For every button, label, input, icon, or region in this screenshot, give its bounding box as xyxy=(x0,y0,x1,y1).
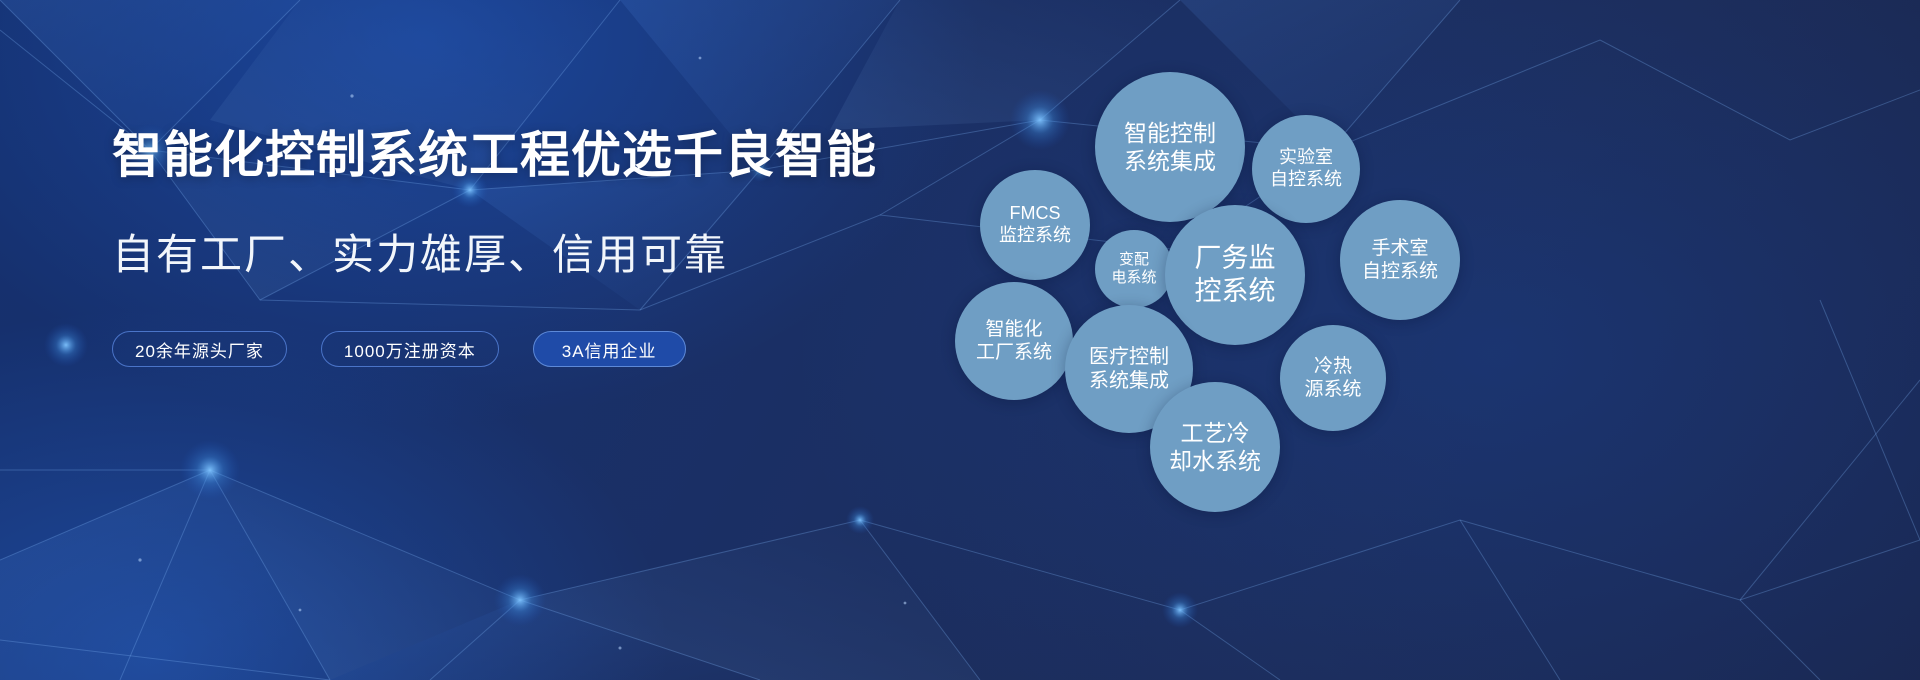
bubble-label-line: 自控系统 xyxy=(1270,169,1342,191)
bubble-label-line: 电系统 xyxy=(1111,269,1156,287)
bubble-intelligent-control-integration[interactable]: 智能控制系统集成 xyxy=(1095,72,1245,222)
bubble-label-line: 控系统 xyxy=(1195,275,1276,308)
hero-banner: 智能化控制系统工程优选千良智能 自有工厂、实力雄厚、信用可靠 20余年源头厂家 … xyxy=(0,0,1920,680)
bubble-lab-automation[interactable]: 实验室自控系统 xyxy=(1252,115,1360,223)
bubble-intelligent-factory[interactable]: 智能化工厂系统 xyxy=(955,282,1073,400)
bubble-label-line: 源系统 xyxy=(1304,378,1361,401)
bubble-label-line: 自控系统 xyxy=(1362,260,1438,283)
bubble-label-line: 却水系统 xyxy=(1169,447,1261,475)
bubble-plant-facility-monitoring[interactable]: 厂务监控系统 xyxy=(1165,205,1305,345)
bubble-label-line: 系统集成 xyxy=(1124,147,1216,175)
bubble-label-line: 智能化 xyxy=(985,318,1042,341)
polygon-faces-bottom xyxy=(0,470,980,680)
badge-group: 20余年源头厂家 1000万注册资本 3A信用企业 xyxy=(112,331,1012,367)
bubble-fmcs-monitoring[interactable]: FMCS监控系统 xyxy=(980,170,1090,280)
badge-years[interactable]: 20余年源头厂家 xyxy=(112,331,287,367)
bubble-label-line: FMCS xyxy=(1010,203,1061,225)
bubble-label-line: 监控系统 xyxy=(999,225,1071,247)
bubble-label-line: 工厂系统 xyxy=(976,341,1052,364)
bubble-power-distribution[interactable]: 变配电系统 xyxy=(1095,230,1173,308)
bubble-label-line: 手术室 xyxy=(1371,237,1428,260)
bubble-label-line: 实验室 xyxy=(1279,147,1333,169)
bubble-label-line: 工艺冷 xyxy=(1181,419,1250,447)
page-title: 智能化控制系统工程优选千良智能 xyxy=(112,128,1012,183)
badge-credit-rating[interactable]: 3A信用企业 xyxy=(533,331,686,367)
bubble-label-line: 厂务监 xyxy=(1195,242,1276,275)
bubble-label-line: 系统集成 xyxy=(1089,369,1169,393)
hero-subtitle: 自有工厂、实力雄厚、信用可靠 xyxy=(112,231,1012,279)
service-bubble-cluster: 智能控制系统集成实验室自控系统手术室自控系统FMCS监控系统变配电系统厂务监控系… xyxy=(940,50,1840,650)
bubble-label-line: 智能控制 xyxy=(1124,119,1216,147)
badge-capital[interactable]: 1000万注册资本 xyxy=(321,331,499,367)
bubble-label-line: 变配 xyxy=(1119,251,1149,269)
hero-copy-block: 智能化控制系统工程优选千良智能 自有工厂、实力雄厚、信用可靠 20余年源头厂家 … xyxy=(112,128,1012,367)
bubble-label-line: 冷热 xyxy=(1314,355,1352,378)
bubble-operating-room-automation[interactable]: 手术室自控系统 xyxy=(1340,200,1460,320)
bubble-heat-cold-source[interactable]: 冷热源系统 xyxy=(1280,325,1386,431)
bubble-process-cooling-water[interactable]: 工艺冷却水系统 xyxy=(1150,382,1280,512)
bubble-label-line: 医疗控制 xyxy=(1089,345,1169,369)
